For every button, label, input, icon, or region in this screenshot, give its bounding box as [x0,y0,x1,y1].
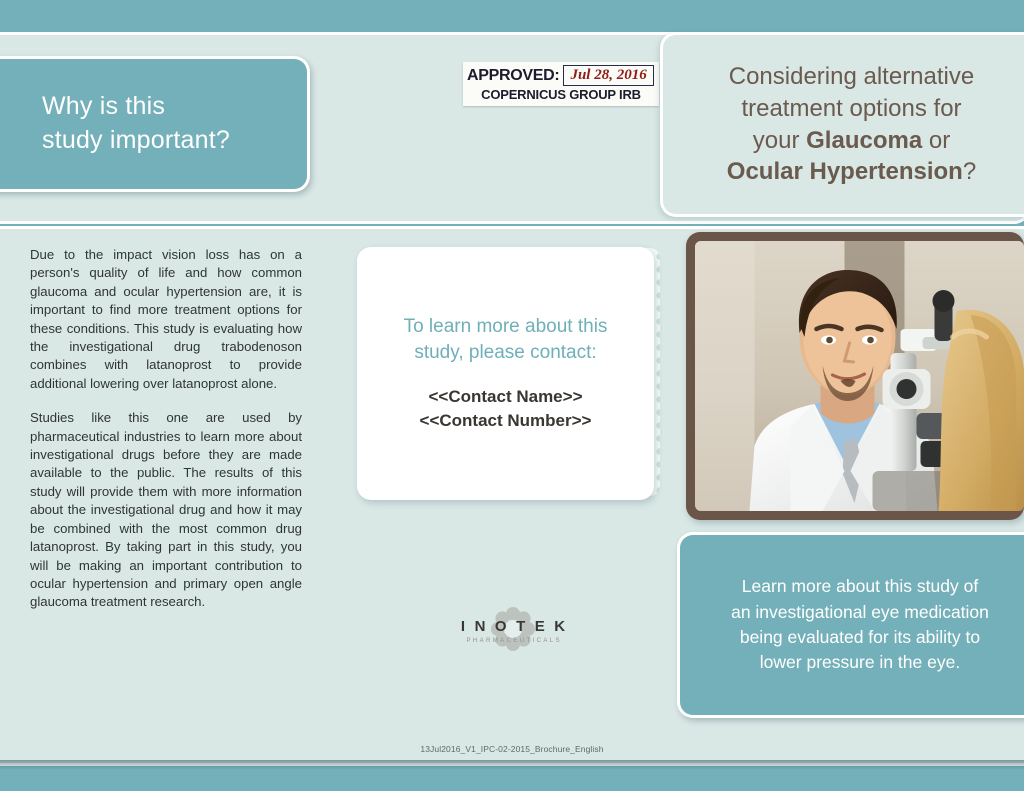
body-copy: Due to the impact vision loss has on a p… [30,246,302,628]
photo-frame [686,232,1024,520]
headline-text: Considering alternative treatment option… [663,61,1024,188]
section-header-text: Why is this study important? [0,90,230,158]
contact-title-line1: To learn more about this [404,314,608,340]
stamp-date: Jul 28, 2016 [570,67,646,83]
study-summary-line4: lower pressure in the eye. [731,650,989,675]
inotek-tagline: PHARMACEUTICALS [418,638,608,644]
study-summary-line3: being evaluated for its ability to [731,625,989,650]
headline-card: Considering alternative treatment option… [660,32,1024,217]
footer-document-id: 13Jul2016_V1_IPC-02-2015_Brochure_Englis… [0,744,1024,754]
headline-glaucoma: Glaucoma [806,127,922,154]
study-summary-line2: an investigational eye medication [731,600,989,625]
section-header-why-important: Why is this study important? [0,56,310,192]
sheet-shadow [0,760,1024,770]
headline-line1: Considering alternative [685,61,1018,93]
doctor-patient-photo [695,241,1024,511]
contact-card: To learn more about this study, please c… [357,247,654,500]
headline-line4-suffix: ? [963,158,976,185]
study-summary-card: Learn more about this study of an invest… [677,532,1024,718]
contact-name-placeholder: <<Contact Name>> [428,385,582,409]
section-header-line2: study important? [42,124,230,158]
photo-illustration [695,241,1024,511]
contact-title-line2: study, please contact: [404,340,608,366]
headline-line4: Ocular Hypertension? [685,156,1018,188]
contact-card-title: To learn more about this study, please c… [378,314,634,366]
brochure-page: Why is this study important? APPROVED: J… [0,0,1024,791]
contact-number-placeholder: <<Contact Number>> [420,409,592,433]
irb-approval-stamp: APPROVED: Jul 28, 2016 COPERNICUS GROUP … [463,62,659,106]
headline-ocular-hypertension: Ocular Hypertension [727,158,963,185]
stamp-organization: COPERNICUS GROUP IRB [467,87,655,102]
study-summary-line1: Learn more about this study of [731,574,989,599]
body-paragraph-1: Due to the impact vision loss has on a p… [30,246,302,393]
headline-line3: your Glaucoma or [685,125,1018,157]
inotek-wordmark: INOTEK [418,618,608,635]
stamp-top-row: APPROVED: Jul 28, 2016 [467,65,655,86]
headline-line3-suffix: or [922,127,950,154]
inotek-logo: INOTEK PHARMACEUTICALS [418,606,608,652]
body-paragraph-2: Studies like this one are used by pharma… [30,409,302,611]
headline-line2: treatment options for [685,93,1018,125]
headline-line3-prefix: your [753,127,806,154]
stamp-approved-label: APPROVED: [467,67,559,85]
section-header-line1: Why is this [42,90,230,124]
stamp-date-box: Jul 28, 2016 [563,65,653,86]
study-summary-text: Learn more about this study of an invest… [705,574,1015,676]
